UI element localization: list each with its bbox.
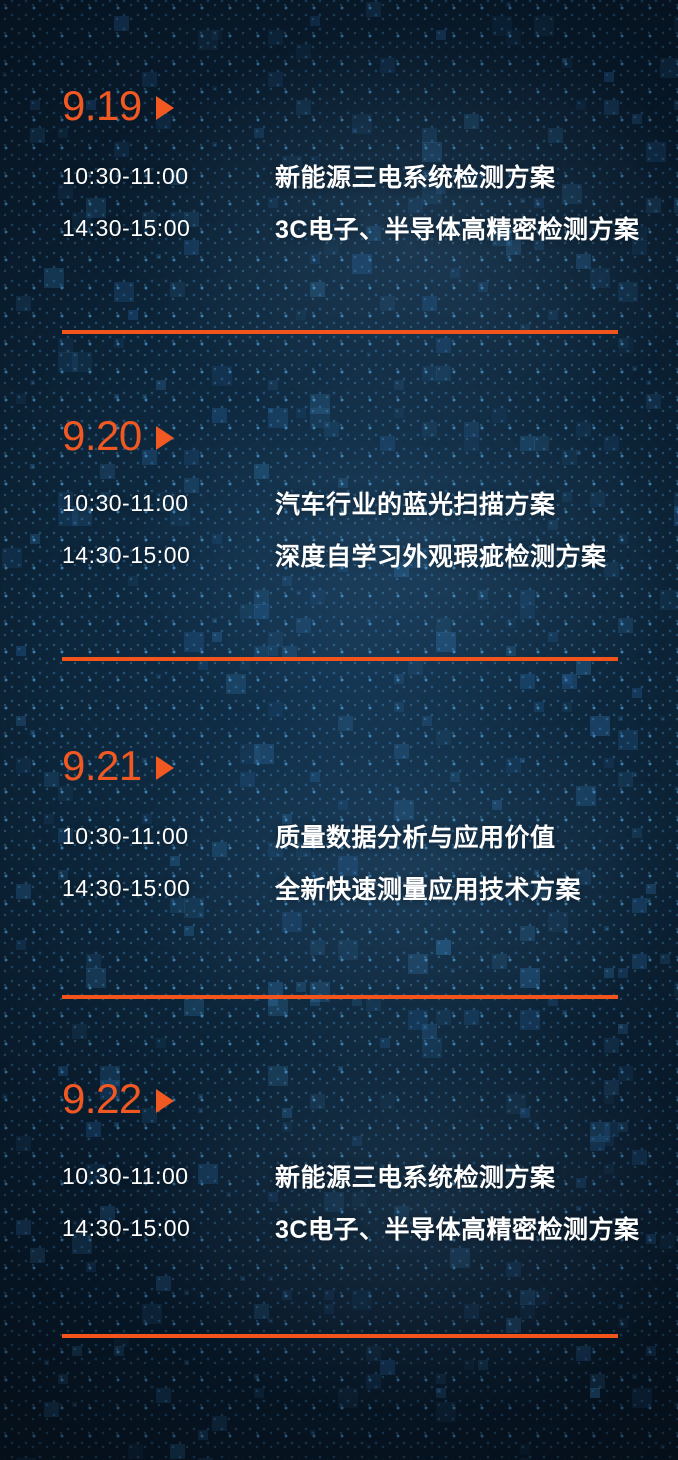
session-time: 14:30-15:00 (62, 539, 275, 575)
play-triangle-icon (156, 96, 174, 120)
session-time: 14:30-15:00 (62, 872, 275, 908)
section-divider (62, 330, 618, 334)
date-label: 9.20 (62, 415, 142, 457)
date-label: 9.19 (62, 85, 142, 127)
session-time: 14:30-15:00 (62, 1212, 275, 1248)
session-row[interactable]: 10:30-11:00新能源三电系统检测方案 (62, 1160, 662, 1196)
play-triangle-icon (156, 1089, 174, 1113)
session-row[interactable]: 14:30-15:003C电子、半导体高精密检测方案 (62, 1212, 662, 1248)
date-header[interactable]: 9.21 (62, 742, 174, 790)
date-label: 9.22 (62, 1078, 142, 1120)
session-time: 14:30-15:00 (62, 212, 275, 248)
session-title: 新能源三电系统检测方案 (275, 160, 556, 196)
session-title: 全新快速测量应用技术方案 (275, 872, 581, 908)
date-header[interactable]: 9.19 (62, 82, 174, 130)
session-row[interactable]: 10:30-11:00新能源三电系统检测方案 (62, 160, 662, 196)
date-label: 9.21 (62, 745, 142, 787)
section-divider (62, 995, 618, 999)
session-row[interactable]: 10:30-11:00汽车行业的蓝光扫描方案 (62, 487, 662, 523)
session-row[interactable]: 14:30-15:00全新快速测量应用技术方案 (62, 872, 662, 908)
session-title: 汽车行业的蓝光扫描方案 (275, 487, 556, 523)
session-title: 3C电子、半导体高精密检测方案 (275, 212, 639, 248)
session-row[interactable]: 10:30-11:00质量数据分析与应用价值 (62, 820, 662, 856)
session-row[interactable]: 14:30-15:00深度自学习外观瑕疵检测方案 (62, 539, 662, 575)
session-title: 质量数据分析与应用价值 (275, 820, 556, 856)
date-header[interactable]: 9.20 (62, 412, 174, 460)
schedule-list: 9.1910:30-11:00新能源三电系统检测方案14:30-15:003C电… (0, 0, 678, 1460)
section-divider (62, 657, 618, 661)
session-title: 新能源三电系统检测方案 (275, 1160, 556, 1196)
play-triangle-icon (156, 426, 174, 450)
play-triangle-icon (156, 756, 174, 780)
session-time: 10:30-11:00 (62, 160, 275, 196)
section-divider (62, 1334, 618, 1338)
session-time: 10:30-11:00 (62, 487, 275, 523)
date-header[interactable]: 9.22 (62, 1075, 174, 1123)
poster-canvas: 9.1910:30-11:00新能源三电系统检测方案14:30-15:003C电… (0, 0, 678, 1460)
session-time: 10:30-11:00 (62, 1160, 275, 1196)
session-row[interactable]: 14:30-15:003C电子、半导体高精密检测方案 (62, 212, 662, 248)
session-time: 10:30-11:00 (62, 820, 275, 856)
session-title: 3C电子、半导体高精密检测方案 (275, 1212, 639, 1248)
session-title: 深度自学习外观瑕疵检测方案 (275, 539, 607, 575)
